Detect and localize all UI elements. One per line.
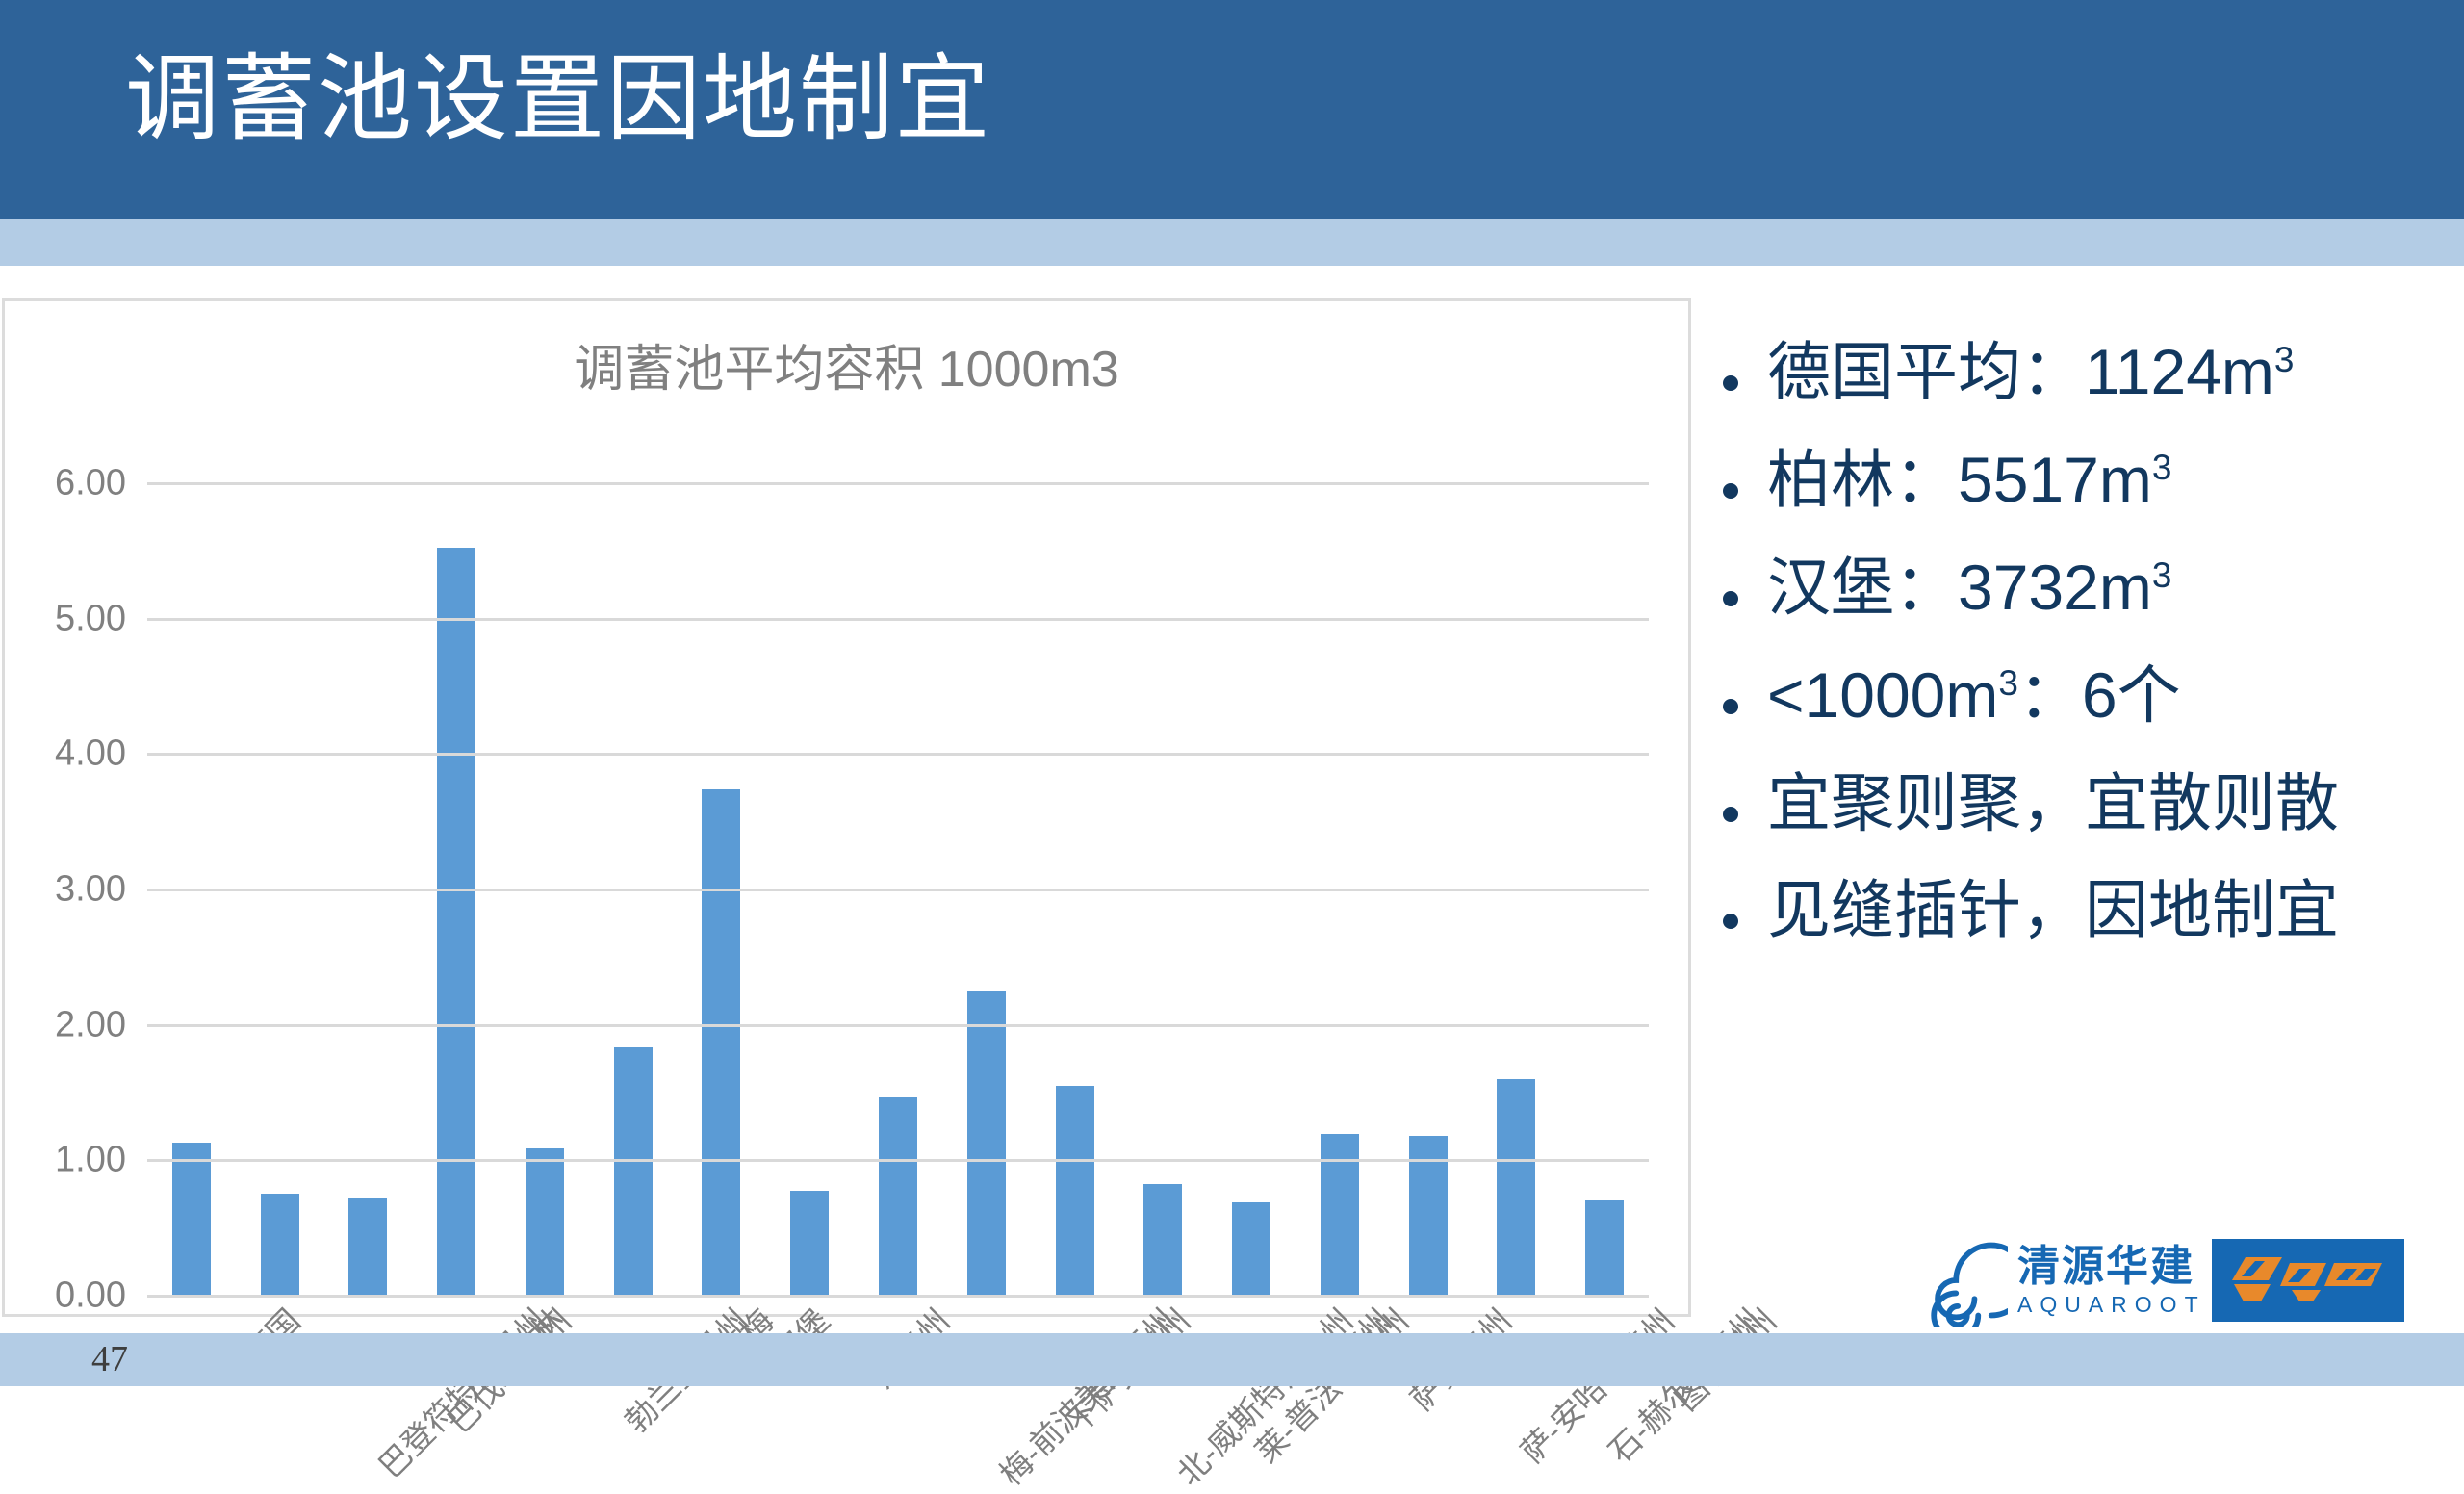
chart-gridline (147, 753, 1649, 756)
bullet-text: 汉堡：3732m3 (1767, 551, 2171, 626)
header-accent-band (0, 219, 2464, 266)
chart-gridline (147, 889, 1649, 891)
y-axis-tick-label: 5.00 (0, 598, 126, 639)
slide: 调蓄池设置因地制宜 调蓄池平均容积 1000m3 0.001.002.003.0… (0, 0, 2464, 1386)
brand-name-cn: 清源华建 (2017, 1246, 2206, 1288)
bullet-item: 宜聚则聚，宜散则散 (1723, 766, 2454, 841)
chart-container: 调蓄池平均容积 1000m3 0.001.002.003.004.005.006… (2, 298, 1691, 1317)
bgw-mark-icon (2226, 1251, 2390, 1309)
chart-bar[interactable] (1232, 1202, 1270, 1295)
y-axis-tick-label: 4.00 (0, 734, 126, 775)
chart-gridline (147, 482, 1649, 485)
page-title: 调蓄池设置因地制宜 (125, 35, 2243, 162)
chart-gridline (147, 618, 1649, 621)
partner-logo (2212, 1239, 2404, 1322)
bullet-item: 见缝插针，因地制宜 (1723, 873, 2454, 948)
chart-title: 调蓄池平均容积 1000m3 (5, 328, 1688, 400)
chart-gridline (147, 1295, 1649, 1298)
bullet-dot-icon (1723, 591, 1738, 606)
bullet-text: <1000m3：6个 (1767, 658, 2181, 734)
bullet-list: 德国平均：1124m3柏林：5517m3汉堡：3732m3<1000m3：6个宜… (1723, 335, 2454, 981)
chart-bar[interactable] (967, 991, 1006, 1296)
bullet-dot-icon (1723, 483, 1738, 499)
bullet-item: 德国平均：1124m3 (1723, 335, 2454, 410)
chart-gridline (147, 1159, 1649, 1162)
brand-name-en: AQUAROOT (2017, 1294, 2206, 1316)
chart-bar[interactable] (437, 548, 475, 1295)
chart-gridline (147, 1024, 1649, 1027)
bullet-text: 柏林：5517m3 (1767, 443, 2171, 518)
bullet-item: 汉堡：3732m3 (1723, 551, 2454, 626)
bullet-item: <1000m3：6个 (1723, 658, 2454, 734)
aquaroot-text: 清源华建 AQUAROOT (2017, 1246, 2206, 1316)
y-axis-tick-label: 1.00 (0, 1140, 126, 1181)
chart-bar[interactable] (1497, 1079, 1535, 1295)
chart-bar[interactable] (1143, 1184, 1182, 1295)
chart-bar[interactable] (1321, 1134, 1359, 1295)
chart-bar[interactable] (526, 1148, 564, 1295)
aquaroot-logo: 清源华建 AQUAROOT (1915, 1234, 2206, 1327)
bullet-dot-icon (1723, 375, 1738, 391)
chart-bar[interactable] (1585, 1200, 1624, 1295)
bullet-dot-icon (1723, 914, 1738, 929)
y-axis-tick-label: 2.00 (0, 1004, 126, 1045)
bullet-text: 宜聚则聚，宜散则散 (1767, 766, 2339, 841)
bullet-dot-icon (1723, 699, 1738, 714)
y-axis-tick-label: 0.00 (0, 1275, 126, 1317)
footer-band (0, 1333, 2464, 1386)
chart-bar[interactable] (614, 1047, 653, 1295)
chart-bar[interactable] (879, 1097, 917, 1295)
spiral-icon (1915, 1234, 2008, 1327)
bullet-text: 德国平均：1124m3 (1767, 335, 2294, 410)
chart-bar[interactable] (1056, 1086, 1094, 1295)
chart-bar[interactable] (261, 1194, 299, 1296)
y-axis-tick-label: 6.00 (0, 463, 126, 504)
logo-area: 清源华建 AQUAROOT (1915, 1234, 2454, 1327)
y-axis-tick-label: 3.00 (0, 869, 126, 911)
bullet-dot-icon (1723, 807, 1738, 822)
bullet-text: 见缝插针，因地制宜 (1767, 873, 2339, 948)
chart-plot-area: 0.001.002.003.004.005.006.00 (147, 482, 1649, 1295)
chart-bar[interactable] (172, 1143, 211, 1295)
chart-bar[interactable] (348, 1198, 387, 1295)
page-number: 47 (91, 1338, 128, 1380)
chart-bar[interactable] (702, 789, 740, 1295)
chart-bar[interactable] (790, 1191, 829, 1295)
bullet-item: 柏林：5517m3 (1723, 443, 2454, 518)
